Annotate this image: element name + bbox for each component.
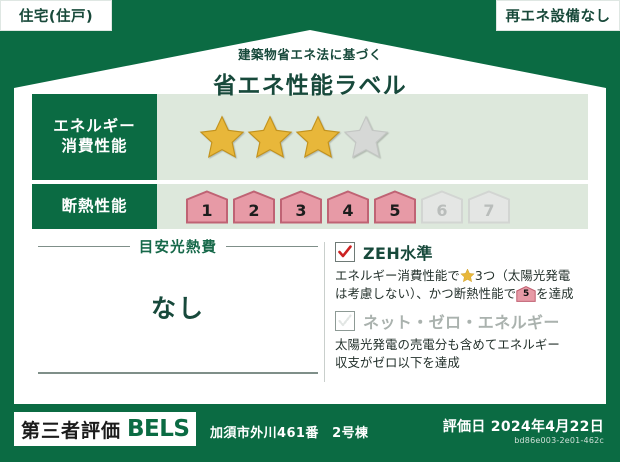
insulation-performance-label: 断熱性能 (32, 184, 157, 229)
insulation-level-number: 1 (185, 190, 229, 224)
evaluation-id: bd86e003-2e01-462c (514, 436, 604, 445)
property-address: 加須市外川461番 2号棟 (210, 422, 368, 441)
star-filled-icon (295, 114, 341, 160)
insulation-level-number: 7 (467, 190, 511, 224)
evaluation-date: 評価日 2024年4月22日 (443, 416, 604, 436)
zeh-desc-part3: を達成 (536, 286, 573, 301)
divider-left (38, 246, 130, 248)
zeh-desc-part1: エネルギー消費性能で (335, 268, 460, 283)
net-zero-title: ネット・ゼロ・エネルギー (363, 309, 560, 333)
zeh-standard-title: ZEH水準 (363, 240, 433, 264)
energy-performance-label: エネルギー 消費性能 (32, 94, 157, 180)
divider-right (226, 246, 318, 248)
insulation-level-filled: 3 (279, 190, 323, 224)
net-zero-description: 太陽光発電の売電分も含めてエネルギー 収支がゼロ以下を達成 (335, 336, 588, 371)
utility-cost-bottom-divider (38, 372, 318, 374)
utility-cost-header: 目安光熱費 (32, 236, 324, 257)
net-zero-energy-block: ネット・ゼロ・エネルギー 太陽光発電の売電分も含めてエネルギー 収支がゼロ以下を… (335, 309, 588, 371)
renewable-equipment-tag: 再エネ設備なし (496, 0, 620, 31)
star-rating (157, 94, 588, 180)
header-titles: 建築物省エネ法に基づく 省エネ性能ラベル (14, 44, 606, 100)
zeh-standard-header: ZEH水準 (335, 240, 588, 264)
utility-cost-panel: 目安光熱費 なし (32, 236, 324, 388)
insulation-label-text: 断熱性能 (61, 197, 127, 217)
insulation-level-filled: 2 (232, 190, 276, 224)
energy-label-root: 建築物省エネ法に基づく 省エネ性能ラベル エネルギー 消費性能 断熱性能 123… (0, 0, 620, 462)
header-subtitle: 建築物省エネ法に基づく (14, 44, 606, 63)
utility-cost-title: 目安光熱費 (139, 236, 218, 257)
zeh-standard-checkbox[interactable] (335, 242, 355, 262)
zeh-panel: ZEH水準 エネルギー消費性能で 3つ（太陽光発電 は考慮しない）、かつ断熱性能… (335, 236, 588, 388)
insulation-level-filled: 5 (373, 190, 417, 224)
insulation-level-number: 6 (420, 190, 464, 224)
insulation-level-number: 3 (279, 190, 323, 224)
net-zero-desc-part1: 太陽光発電の売電分も含めてエネルギー (335, 337, 560, 352)
third-party-evaluation-label: 第三者評価 (21, 416, 121, 443)
insulation-level-empty: 6 (420, 190, 464, 224)
star-empty-icon (343, 114, 389, 160)
zeh-desc-part2: は考慮しない）、かつ断熱性能で (335, 286, 516, 301)
net-zero-desc-part2: 収支がゼロ以下を達成 (335, 355, 460, 370)
inline-badge-number: 5 (516, 286, 536, 302)
check-icon-faint (337, 313, 353, 329)
zeh-desc-star-text: 3つ（太陽光発電 (475, 268, 570, 283)
insulation-level-number: 2 (232, 190, 276, 224)
energy-label-line1: エネルギー (53, 117, 136, 137)
insulation-level-empty: 7 (467, 190, 511, 224)
inline-star-icon (460, 268, 475, 283)
zeh-standard-description: エネルギー消費性能で 3つ（太陽光発電 は考慮しない）、かつ断熱性能で 5 を達… (335, 267, 588, 302)
insulation-level-number: 4 (326, 190, 370, 224)
insulation-level-scale: 1234567 (157, 184, 588, 229)
star-filled-icon (247, 114, 293, 160)
check-icon (337, 244, 353, 260)
bels-wordmark: BELS (127, 416, 189, 442)
utility-cost-value: なし (32, 289, 324, 325)
star-filled-icon (199, 114, 245, 160)
net-zero-header: ネット・ゼロ・エネルギー (335, 309, 588, 333)
building-type-tag: 住宅(住戸) (0, 0, 112, 31)
footer-bar: 第三者評価 BELS 加須市外川461番 2号棟 評価日 2024年4月22日 … (0, 404, 620, 462)
vertical-divider (324, 242, 325, 382)
lower-section: 目安光熱費 なし ZEH水準 (32, 236, 588, 388)
insulation-performance-row: 断熱性能 1234567 (32, 184, 588, 229)
energy-label-line2: 消費性能 (61, 137, 127, 157)
insulation-level-filled: 1 (185, 190, 229, 224)
insulation-level-filled: 4 (326, 190, 370, 224)
insulation-level-number: 5 (373, 190, 417, 224)
energy-performance-row: エネルギー 消費性能 (32, 94, 588, 180)
inline-insulation-badge: 5 (516, 286, 536, 302)
bels-logo: 第三者評価 BELS (14, 412, 196, 446)
zeh-standard-block: ZEH水準 エネルギー消費性能で 3つ（太陽光発電 は考慮しない）、かつ断熱性能… (335, 240, 588, 302)
net-zero-checkbox[interactable] (335, 311, 355, 331)
